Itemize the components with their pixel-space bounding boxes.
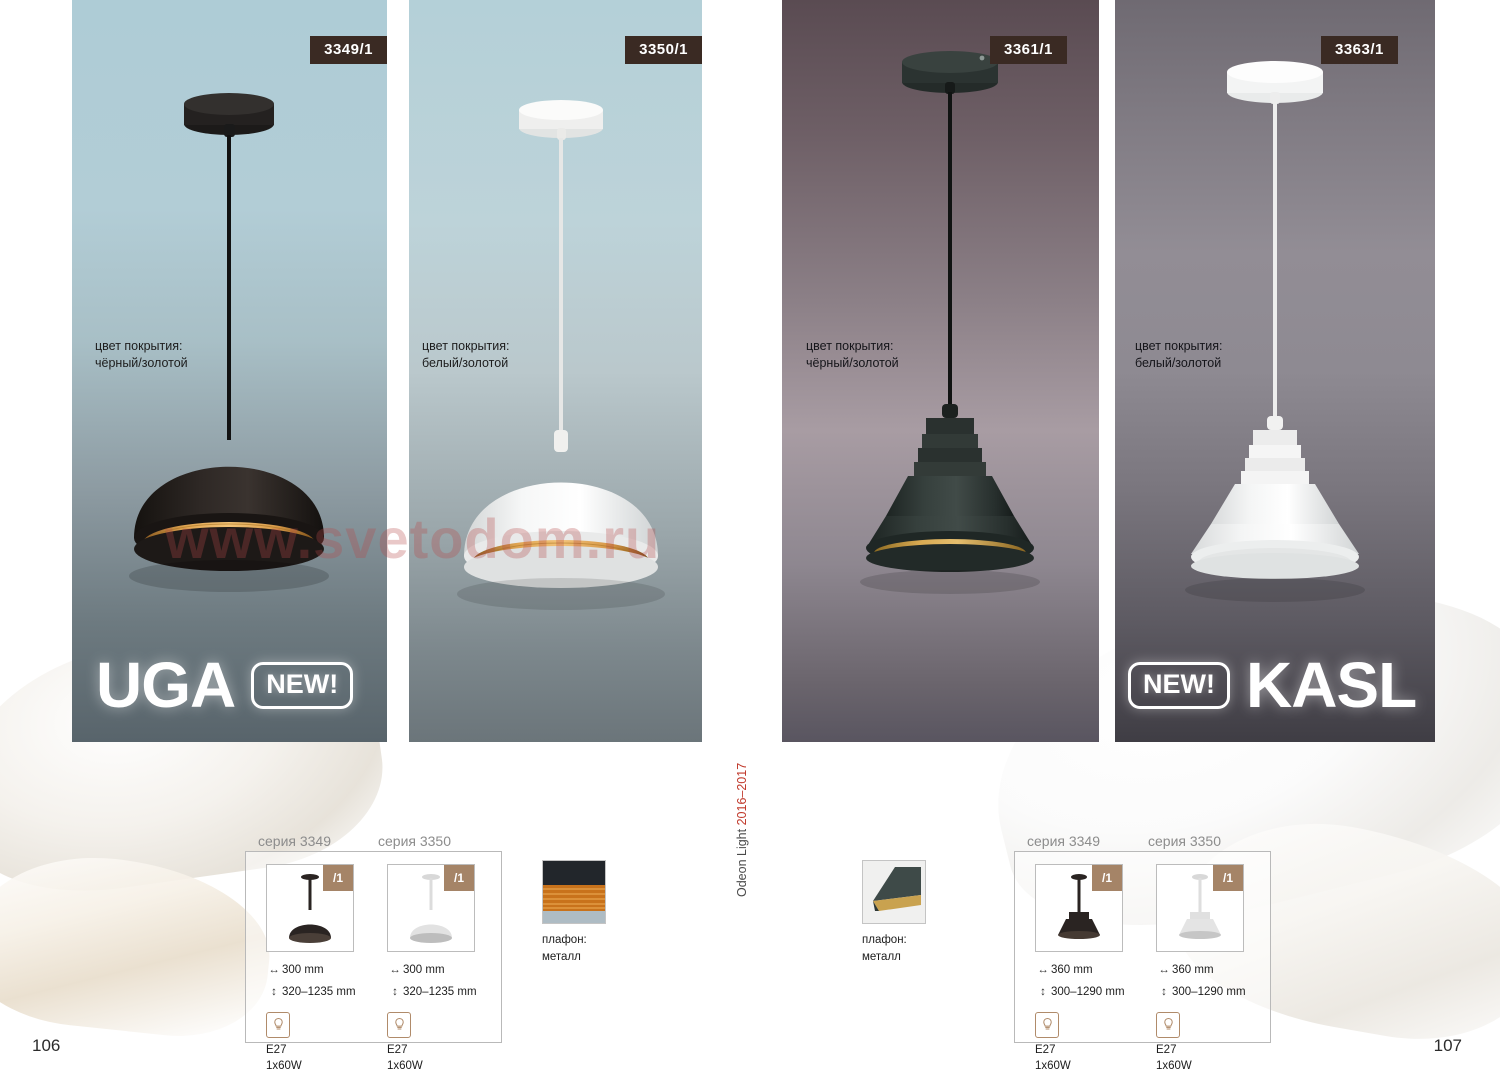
variant-tab: /1 (1213, 865, 1243, 891)
product-panel-3361: 3361/1 цвет покрытия: чёрный/золотой (782, 0, 1099, 742)
coating-label: цвет покрытия: (95, 338, 188, 355)
product-code-badge: 3363/1 (1321, 36, 1398, 64)
socket-power: E27 1x60W (1156, 1042, 1246, 1074)
product-panel-3350: 3350/1 цвет покрытия: белый/золотой (409, 0, 702, 742)
spec-column-3361: /1 ↔360 mm ↕300–1290 mm E27 1x60W (1035, 864, 1125, 1074)
series-label-right-1: серия 3349 (1027, 833, 1100, 849)
socket-power: E27 1x60W (266, 1042, 356, 1074)
dimension-diameter: ↔360 mm (1156, 960, 1246, 982)
material-swatch-metal (542, 860, 606, 924)
swatch-metal-gold-icon (543, 861, 605, 923)
bulb-icon (1035, 1012, 1059, 1038)
brand-name: Odeon Light (735, 825, 749, 897)
material-value: металл (542, 949, 606, 966)
material-caption: плафон: (542, 932, 606, 949)
material-label: плафон: металл (542, 932, 606, 965)
spec-table-left: /1 ↔300 mm ↕320–1235 mm E27 1x60W (245, 851, 502, 1043)
socket-power: E27 1x60W (387, 1042, 477, 1074)
coating-value: белый/золотой (422, 355, 509, 372)
product-thumbnail[interactable]: /1 (1035, 864, 1123, 952)
series-name: KASL (1246, 653, 1416, 717)
material-swatch-metal (862, 860, 926, 924)
coating-label: цвет покрытия: (422, 338, 509, 355)
variant-tab: /1 (323, 865, 353, 891)
coating-label: цвет покрытия: (806, 338, 899, 355)
socket-type: E27 (1035, 1042, 1125, 1058)
height-arrow-icon: ↕ (387, 982, 403, 1004)
series-wordmark-kasl: NEW! KASL (1128, 653, 1416, 717)
dimension-height: ↕300–1290 mm (1035, 982, 1125, 1004)
coating-note: цвет покрытия: белый/золотой (1135, 338, 1222, 372)
socket-type: E27 (1156, 1042, 1246, 1058)
swatch-metal-barn-icon (863, 861, 925, 923)
material-label: плафон: металл (862, 932, 926, 965)
power-rating: 1x60W (387, 1058, 477, 1074)
product-code-badge: 3349/1 (310, 36, 387, 64)
bulb-icon (266, 1012, 290, 1038)
page-number-left: 106 (32, 1036, 60, 1056)
height-arrow-icon: ↕ (1035, 982, 1051, 1004)
coating-note: цвет покрытия: чёрный/золотой (806, 338, 899, 372)
dimension-height: ↕320–1235 mm (387, 982, 477, 1004)
width-arrow-icon: ↔ (1156, 960, 1172, 982)
series-label-left-2: серия 3350 (378, 833, 451, 849)
product-panel-3363: 3363/1 цвет покрытия: белый/золотой (1115, 0, 1435, 742)
variant-tab: /1 (444, 865, 474, 891)
material-block-left: плафон: металл (542, 860, 606, 965)
new-badge: NEW! (251, 662, 353, 709)
material-value: металл (862, 949, 926, 966)
socket-power: E27 1x60W (1035, 1042, 1125, 1074)
variant-tab: /1 (1092, 865, 1122, 891)
catalog-years: 2016–2017 (735, 763, 749, 826)
power-rating: 1x60W (1035, 1058, 1125, 1074)
bulb-icon (1156, 1012, 1180, 1038)
new-badge: NEW! (1128, 662, 1230, 709)
spec-column-3363: /1 ↔360 mm ↕300–1290 mm E27 1x60W (1156, 864, 1246, 1074)
product-code-badge: 3361/1 (990, 36, 1067, 64)
power-rating: 1x60W (266, 1058, 356, 1074)
product-panel-3349: 3349/1 цвет покрытия: чёрный/золотой (72, 0, 387, 742)
height-arrow-icon: ↕ (1156, 982, 1172, 1004)
width-arrow-icon: ↔ (266, 960, 282, 982)
material-caption: плафон: (862, 932, 926, 949)
product-thumbnail[interactable]: /1 (387, 864, 475, 952)
dimension-diameter: ↔300 mm (387, 960, 477, 982)
spec-table-right: /1 ↔360 mm ↕300–1290 mm E27 1x60W (1014, 851, 1271, 1043)
coating-value: чёрный/золотой (806, 355, 899, 372)
coating-note: цвет покрытия: чёрный/золотой (95, 338, 188, 372)
coating-value: белый/золотой (1135, 355, 1222, 372)
bulb-icon (387, 1012, 411, 1038)
dimension-diameter: ↔360 mm (1035, 960, 1125, 982)
series-wordmark-uga: UGA NEW! (96, 653, 353, 717)
catalog-spread: 3349/1 цвет покрытия: чёрный/золотой (0, 0, 1500, 1084)
series-label-left-1: серия 3349 (258, 833, 331, 849)
socket-type: E27 (266, 1042, 356, 1058)
series-label-right-2: серия 3350 (1148, 833, 1221, 849)
page-number-right: 107 (1434, 1036, 1462, 1056)
spread-side-caption: Odeon Light 2016–2017 (735, 727, 759, 897)
dimension-height: ↕300–1290 mm (1156, 982, 1246, 1004)
series-name: UGA (96, 653, 235, 717)
power-rating: 1x60W (1156, 1058, 1246, 1074)
width-arrow-icon: ↔ (1035, 960, 1051, 982)
product-thumbnail[interactable]: /1 (1156, 864, 1244, 952)
coating-note: цвет покрытия: белый/золотой (422, 338, 509, 372)
product-code-badge: 3350/1 (625, 36, 702, 64)
width-arrow-icon: ↔ (387, 960, 403, 982)
background-lamp-shape-2 (0, 845, 278, 1045)
product-thumbnail[interactable]: /1 (266, 864, 354, 952)
dimension-height: ↕320–1235 mm (266, 982, 356, 1004)
socket-type: E27 (387, 1042, 477, 1058)
dimension-diameter: ↔300 mm (266, 960, 356, 982)
coating-value: чёрный/золотой (95, 355, 188, 372)
coating-label: цвет покрытия: (1135, 338, 1222, 355)
spec-column-3349: /1 ↔300 mm ↕320–1235 mm E27 1x60W (266, 864, 356, 1074)
spec-column-3350: /1 ↔300 mm ↕320–1235 mm E27 1x60W (387, 864, 477, 1074)
material-block-right: плафон: металл (862, 860, 926, 965)
height-arrow-icon: ↕ (266, 982, 282, 1004)
